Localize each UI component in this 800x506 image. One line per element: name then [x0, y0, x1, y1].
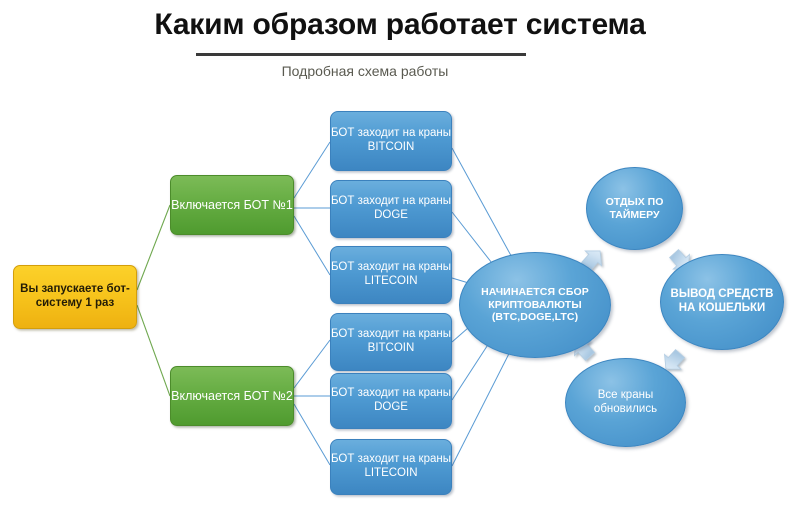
faucet-box-3-label: БОТ заходит на краны LITECOIN	[331, 261, 451, 288]
faucet-box-2[interactable]: БОТ заходит на краны DOGE	[330, 180, 452, 238]
cycle-ellipse-refresh[interactable]: Все краны обновились	[565, 358, 686, 447]
page-subtitle: Подробная схема работы	[0, 63, 730, 79]
faucet-box-6-label: БОТ заходит на краны LITECOIN	[331, 453, 451, 480]
faucet-box-3[interactable]: БОТ заходит на краны LITECOIN	[330, 246, 452, 304]
faucet-box-5[interactable]: БОТ заходит на краны DOGE	[330, 373, 452, 429]
title-divider	[196, 53, 526, 56]
connector-bot1-to-faucets	[294, 142, 330, 275]
start-box-label: Вы запускаете бот-систему 1 раз	[14, 283, 136, 310]
connector-bot2-to-faucets	[294, 340, 330, 465]
cycle-ellipse-timer[interactable]: ОТДЫХ ПО ТАЙМЕРУ	[586, 167, 683, 250]
bot-box-1[interactable]: Включается БОТ №1	[170, 175, 294, 235]
connector-start-to-bots	[137, 205, 170, 396]
faucet-box-4[interactable]: БОТ заходит на краны BITCOIN	[330, 313, 452, 371]
bot-box-1-label: Включается БОТ №1	[171, 198, 293, 213]
bot-box-2[interactable]: Включается БОТ №2	[170, 366, 294, 426]
faucet-box-1[interactable]: БОТ заходит на краны BITCOIN	[330, 111, 452, 171]
cycle-ellipse-wallet[interactable]: ВЫВОД СРЕДСТВ НА КОШЕЛЬКИ	[660, 254, 784, 350]
faucet-box-4-label: БОТ заходит на краны BITCOIN	[331, 328, 451, 355]
collect-ellipse[interactable]: НАЧИНАЕТСЯ СБОР КРИПТОВАЛЮТЫ (BTC,DOGE,L…	[459, 252, 611, 358]
faucet-box-2-label: БОТ заходит на краны DOGE	[331, 195, 451, 222]
cycle-ellipse-refresh-label: Все краны обновились	[566, 389, 685, 416]
start-box[interactable]: Вы запускаете бот-систему 1 раз	[13, 265, 137, 329]
faucet-box-1-label: БОТ заходит на краны BITCOIN	[331, 127, 451, 154]
collect-ellipse-label: НАЧИНАЕТСЯ СБОР КРИПТОВАЛЮТЫ (BTC,DOGE,L…	[460, 286, 610, 323]
page-title: Каким образом работает система	[0, 8, 800, 42]
faucet-box-6[interactable]: БОТ заходит на краны LITECOIN	[330, 439, 452, 495]
cycle-ellipse-wallet-label: ВЫВОД СРЕДСТВ НА КОШЕЛЬКИ	[661, 288, 783, 315]
cycle-ellipse-timer-label: ОТДЫХ ПО ТАЙМЕРУ	[587, 196, 682, 221]
faucet-box-5-label: БОТ заходит на краны DOGE	[331, 387, 451, 414]
bot-box-2-label: Включается БОТ №2	[171, 389, 293, 404]
